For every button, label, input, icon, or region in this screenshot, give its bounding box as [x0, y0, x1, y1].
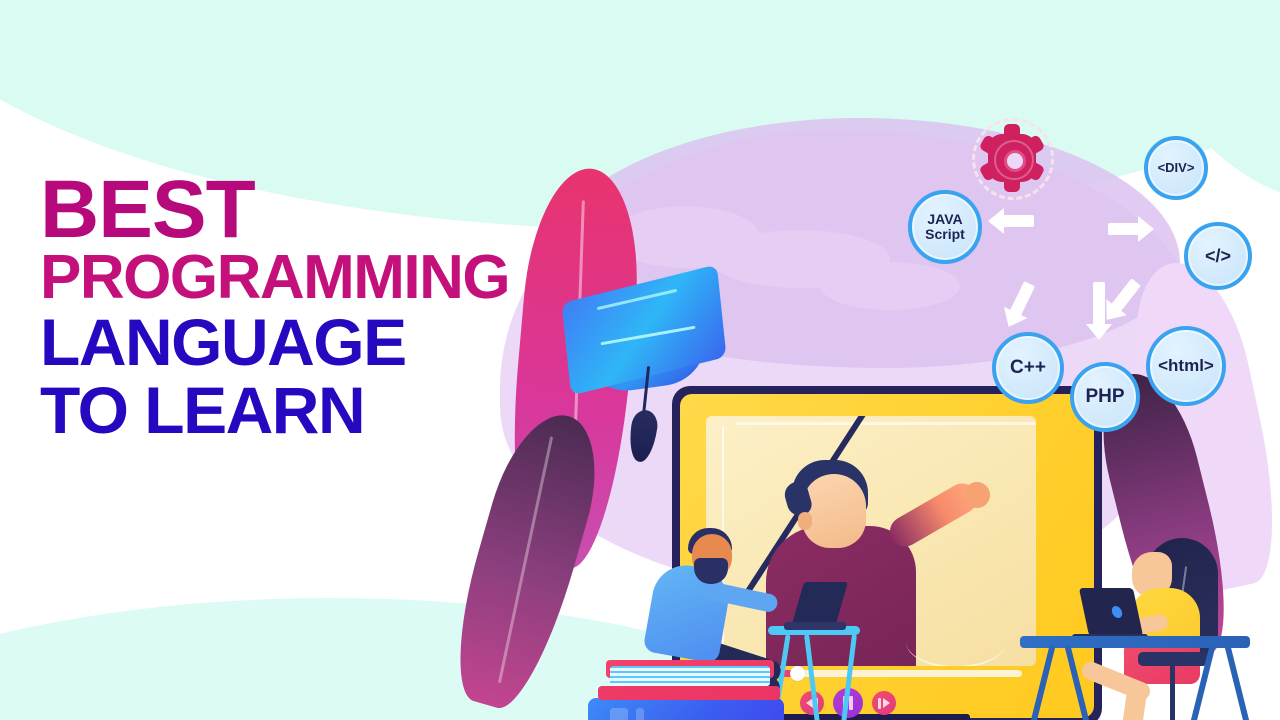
- badge-javascript-line2: Script: [925, 227, 965, 242]
- next-button[interactable]: [872, 691, 896, 715]
- woman-laptop: [1072, 588, 1140, 640]
- headline-block: BEST PROGRAMMING LANGUAGE TO LEARN: [40, 172, 510, 444]
- student-left-laptop: [782, 582, 840, 628]
- gear-icon: [982, 128, 1042, 188]
- screen-highlight: [736, 422, 1036, 425]
- headline-line-1: BEST: [40, 172, 510, 247]
- teacher-hand: [964, 482, 990, 508]
- stool-leg: [840, 634, 857, 720]
- next-icon-bar: [878, 698, 881, 709]
- headline-line-2: PROGRAMMING: [40, 247, 510, 309]
- banner-canvas: BEST PROGRAMMING LANGUAGE TO LEARN: [0, 0, 1280, 720]
- gear-hole: [1004, 150, 1026, 172]
- screen-accent-line: [906, 616, 1006, 666]
- badge-code[interactable]: </>: [1184, 222, 1252, 290]
- badge-javascript-line1: JAVA: [925, 212, 965, 227]
- stool-leg: [804, 634, 821, 720]
- headline-line-3: LANGUAGE: [40, 309, 510, 376]
- book-pages: [610, 666, 770, 686]
- student-beard: [694, 558, 728, 584]
- badge-html[interactable]: <html>: [1146, 326, 1226, 406]
- badge-cpp[interactable]: C++: [992, 332, 1064, 404]
- chair-post: [1170, 664, 1175, 720]
- book-detail: [610, 708, 628, 720]
- next-icon: [883, 698, 890, 708]
- teacher-ear: [798, 512, 812, 530]
- laptop-logo: [1111, 606, 1124, 618]
- laptop-base: [784, 622, 846, 630]
- desk-leg: [1064, 645, 1093, 720]
- desk-leg: [1224, 645, 1253, 720]
- cap-board: [562, 264, 727, 395]
- badge-div[interactable]: <DIV>: [1144, 136, 1208, 200]
- book-middle: [598, 686, 780, 700]
- teacher-head: [802, 474, 866, 548]
- leaf-purple-left: [439, 403, 614, 718]
- cloud-shape: [820, 262, 960, 310]
- badge-php[interactable]: PHP: [1070, 362, 1140, 432]
- illustration: JAVA Script C++ PHP <DIV> </> <html>: [460, 110, 1260, 680]
- desk-leg: [1026, 645, 1055, 720]
- student-left-figure: [600, 530, 810, 720]
- badge-javascript[interactable]: JAVA Script: [908, 190, 982, 264]
- graduation-cap-icon: [556, 270, 746, 430]
- student-right-figure: [1020, 540, 1250, 720]
- laptop-screen: [1079, 588, 1143, 636]
- book-stack: [592, 660, 792, 720]
- laptop-screen: [792, 582, 848, 624]
- headline-line-4: TO LEARN: [40, 377, 510, 444]
- book-detail: [636, 708, 644, 720]
